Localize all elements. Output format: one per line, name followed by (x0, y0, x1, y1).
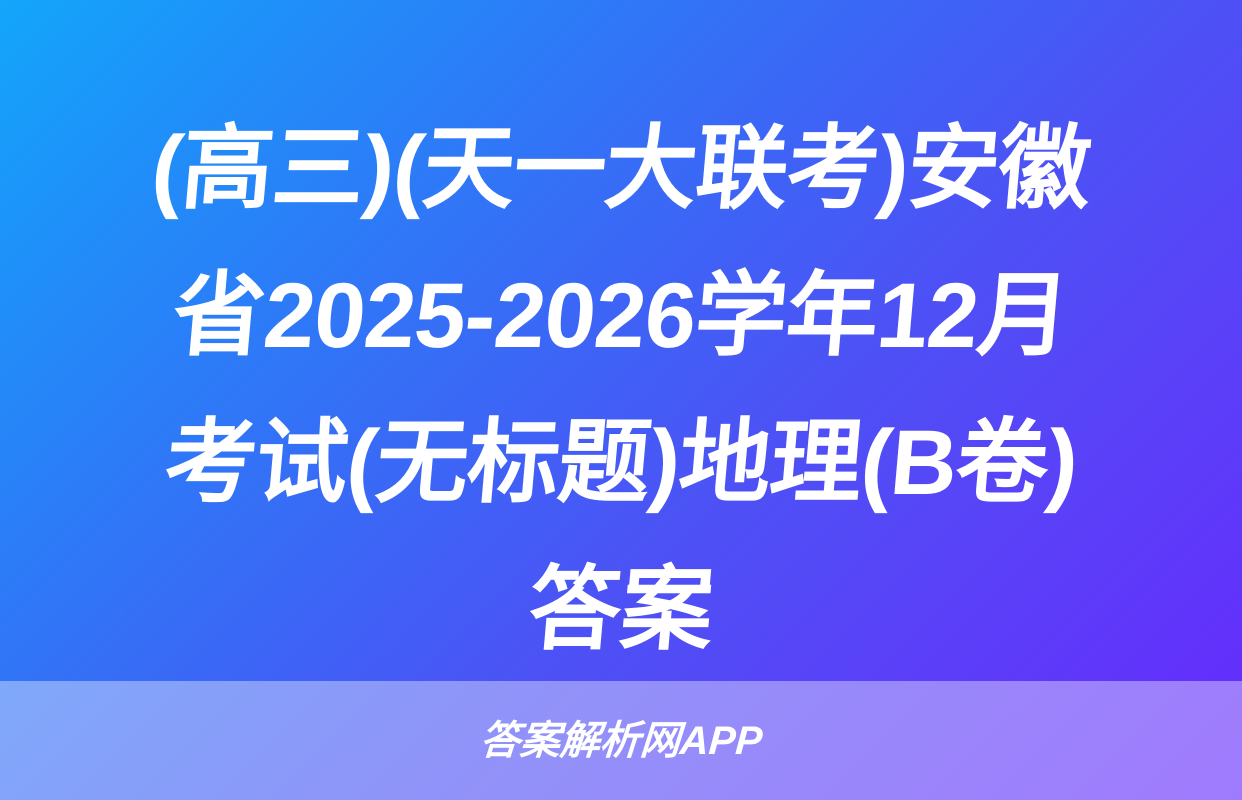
page-title: (高三)(天一大联考)安徽 省2025-2026学年12月 考试(无标题)地理(… (0, 96, 1242, 684)
title-line-2: 省2025-2026学年12月 (74, 243, 1169, 390)
title-line-1: (高三)(天一大联考)安徽 (74, 96, 1169, 243)
brand-name: 答案解析网APP (478, 721, 763, 761)
poster-canvas: (高三)(天一大联考)安徽 省2025-2026学年12月 考试(无标题)地理(… (0, 0, 1242, 800)
title-line-4: 答案 (74, 537, 1169, 684)
footer-brand-band: 答案解析网APP (0, 681, 1242, 800)
title-line-3: 考试(无标题)地理(B卷) (74, 390, 1169, 537)
